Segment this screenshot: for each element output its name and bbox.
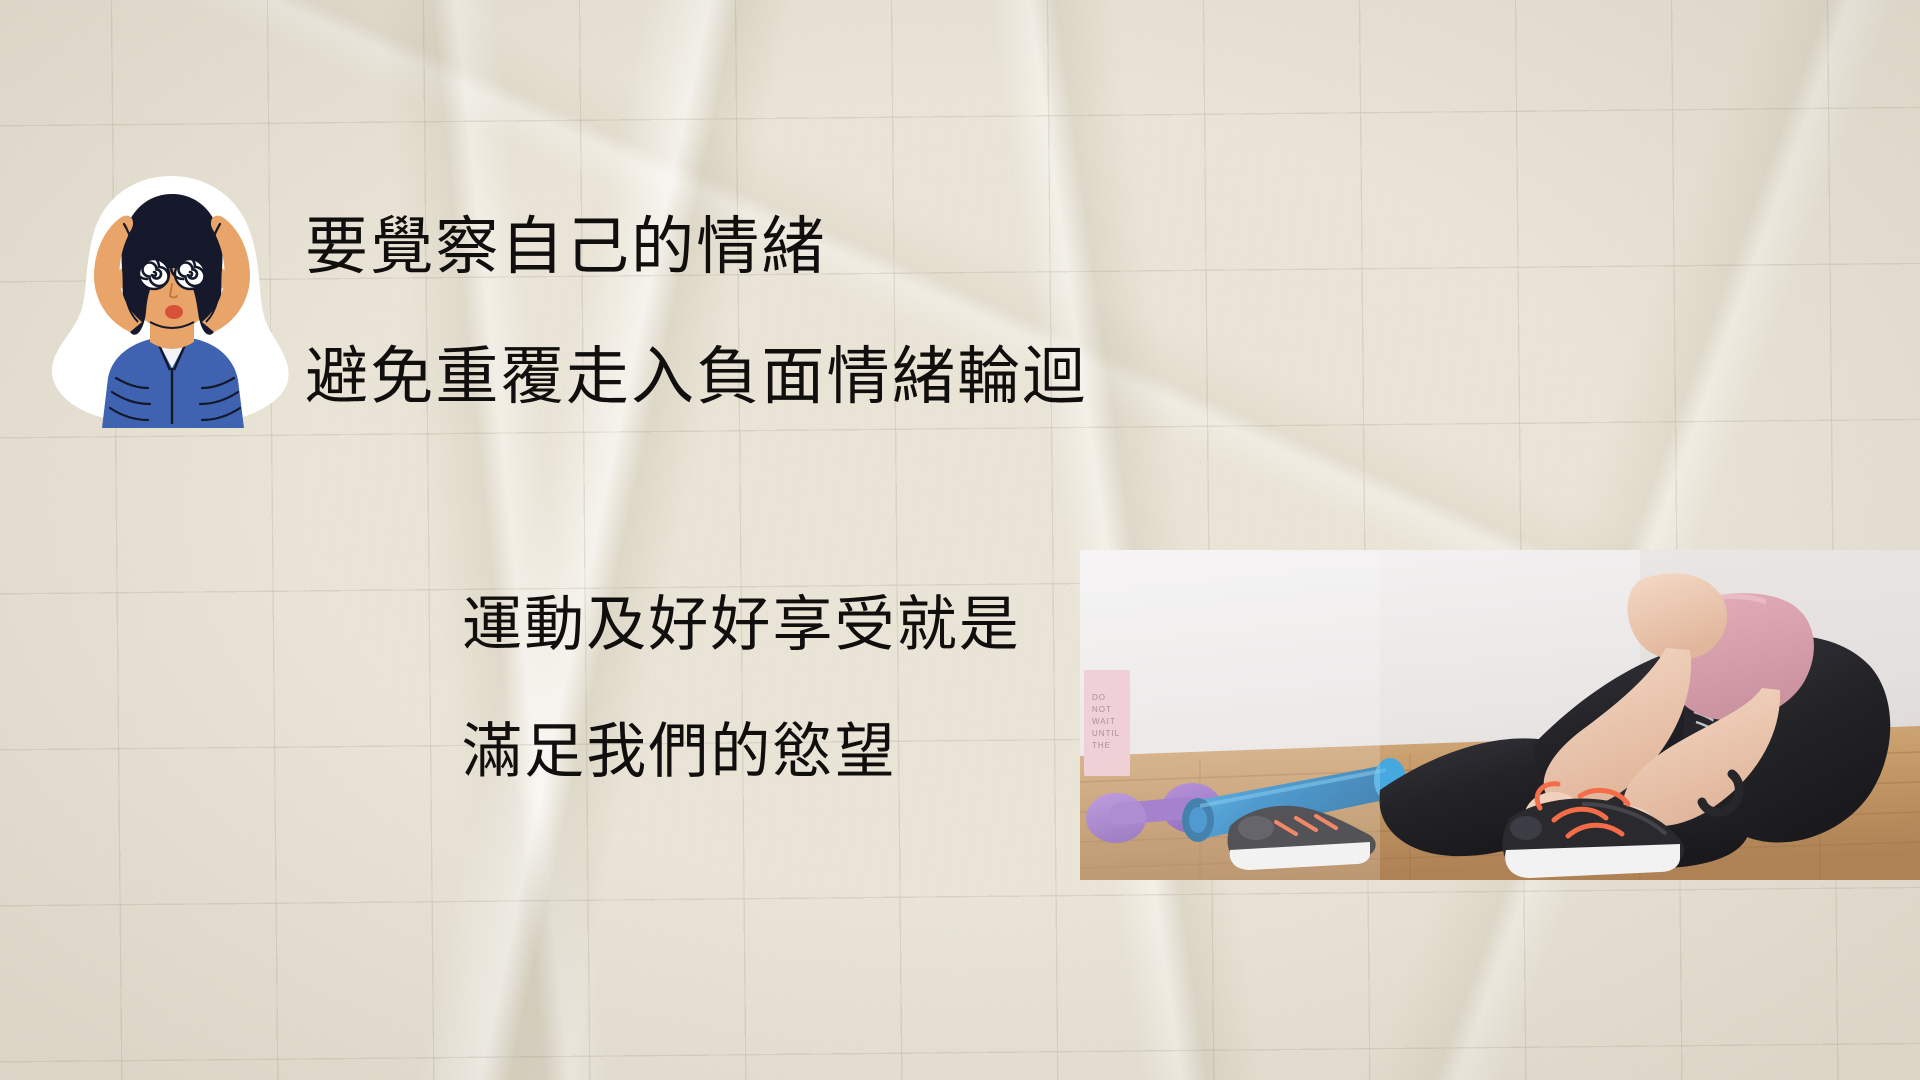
text-line-4: 滿足我們的慾望 — [462, 722, 897, 782]
woman-tying-running-shoes-photo: DO NOT WAIT UNTIL THE — [1080, 550, 1920, 880]
slide-canvas: 要覺察自己的情緒 避免重覆走入負面情緒輪迴 運動及好好享受就是 滿足我們的慾望 — [0, 0, 1920, 1080]
text-line-2: 避免重覆走入負面情緒輪迴 — [305, 345, 1087, 408]
text-line-3: 運動及好好享受就是 — [462, 595, 1021, 655]
text-line-1: 要覺察自己的情緒 — [305, 215, 827, 278]
text-block: 要覺察自己的情緒 避免重覆走入負面情緒輪迴 運動及好好享受就是 滿足我們的慾望 — [0, 0, 1920, 1080]
